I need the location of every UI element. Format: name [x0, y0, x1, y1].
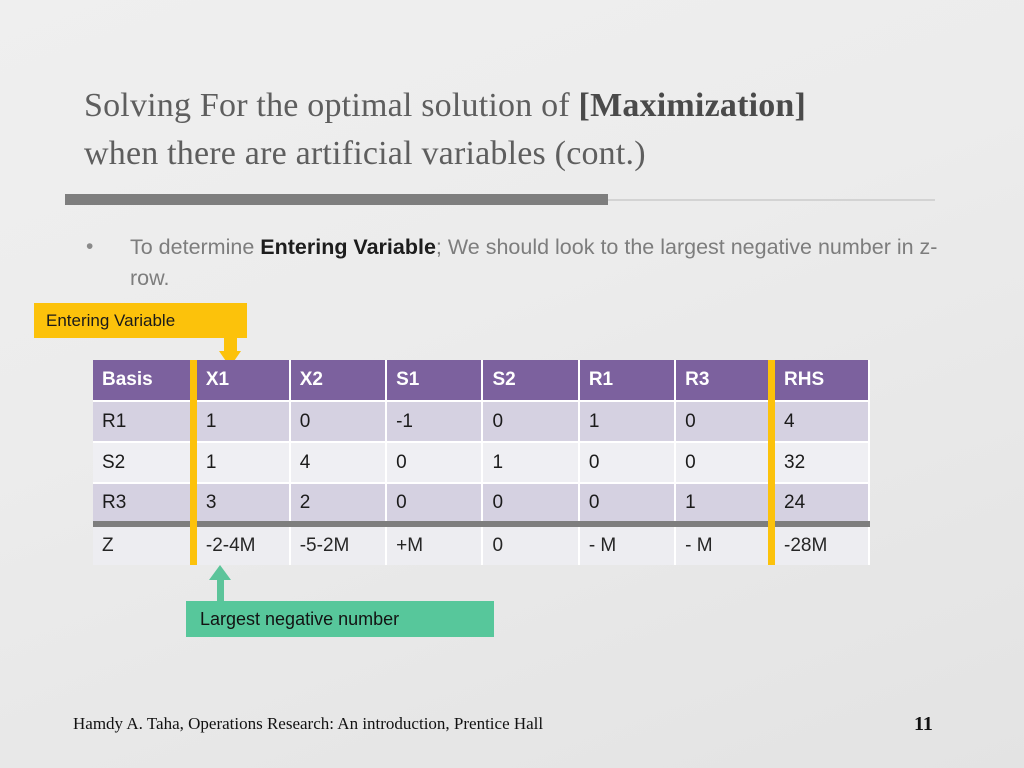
cell-r3: 1 — [675, 483, 771, 524]
cell-s2: 0 — [482, 524, 578, 565]
table-row: S2 1 4 0 1 0 0 32 — [93, 442, 869, 483]
bullet-list: • To determine Entering Variable; We sho… — [86, 232, 946, 294]
cell-x1: 3 — [193, 483, 289, 524]
bullet-text-emphasis: Entering Variable — [260, 235, 436, 259]
cell-x1: 1 — [193, 401, 289, 442]
bullet-marker-icon: • — [86, 236, 93, 257]
cell-x2: 2 — [290, 483, 386, 524]
cell-rhs: 4 — [772, 401, 869, 442]
cell-basis: S2 — [93, 442, 193, 483]
cell-r3: 0 — [675, 401, 771, 442]
column-header-r1: R1 — [579, 360, 675, 401]
callout-largest-negative-number: Largest negative number — [186, 601, 494, 637]
title-line1-bold: [Maximization] — [579, 87, 807, 124]
cell-r3: 0 — [675, 442, 771, 483]
table-row: R1 1 0 -1 0 1 0 4 — [93, 401, 869, 442]
column-header-basis: Basis — [93, 360, 193, 401]
footer-page-number: 11 — [914, 713, 933, 736]
cell-basis: R3 — [93, 483, 193, 524]
cell-basis: Z — [93, 524, 193, 565]
cell-x2: 0 — [290, 401, 386, 442]
table-row: R3 3 2 0 0 0 1 24 — [93, 483, 869, 524]
simplex-tableau: Basis X1 X2 S1 S2 R1 R3 RHS R1 1 0 -1 0 … — [93, 360, 870, 565]
entering-variable-arrow-stem — [224, 336, 237, 352]
cell-r1: - M — [579, 524, 675, 565]
column-header-s2: S2 — [482, 360, 578, 401]
table-row-z: Z -2-4M -5-2M +M 0 - M - M -28M — [93, 524, 869, 565]
cell-s1: 0 — [386, 483, 482, 524]
table-header-row: Basis X1 X2 S1 S2 R1 R3 RHS — [93, 360, 869, 401]
cell-rhs: -28M — [772, 524, 869, 565]
title-line1-plain: Solving For the optimal solution of — [84, 87, 579, 124]
cell-x1: 1 — [193, 442, 289, 483]
title-rule-thick — [65, 194, 608, 205]
cell-r1: 1 — [579, 401, 675, 442]
cell-s1: 0 — [386, 442, 482, 483]
cell-x2: 4 — [290, 442, 386, 483]
cell-x2: -5-2M — [290, 524, 386, 565]
cell-rhs: 32 — [772, 442, 869, 483]
cell-x1: -2-4M — [193, 524, 289, 565]
slide-canvas: Solving For the optimal solution of [Max… — [0, 0, 1024, 768]
cell-rhs: 24 — [772, 483, 869, 524]
column-header-rhs: RHS — [772, 360, 869, 401]
cell-s1: +M — [386, 524, 482, 565]
bullet-text-before: To determine — [130, 235, 260, 259]
cell-s2: 1 — [482, 442, 578, 483]
cell-s2: 0 — [482, 483, 578, 524]
bullet-item: To determine Entering Variable; We shoul… — [130, 232, 946, 294]
column-header-r3: R3 — [675, 360, 771, 401]
cell-basis: R1 — [93, 401, 193, 442]
footer-reference: Hamdy A. Taha, Operations Research: An i… — [73, 714, 543, 734]
column-header-x2: X2 — [290, 360, 386, 401]
cell-s2: 0 — [482, 401, 578, 442]
cell-r1: 0 — [579, 442, 675, 483]
column-header-x1: X1 — [193, 360, 289, 401]
cell-r3: - M — [675, 524, 771, 565]
cell-s1: -1 — [386, 401, 482, 442]
title-line2: when there are artificial variables (con… — [84, 135, 646, 172]
column-header-s1: S1 — [386, 360, 482, 401]
cell-r1: 0 — [579, 483, 675, 524]
callout-entering-variable: Entering Variable — [34, 303, 247, 338]
largest-negative-arrow-stem — [217, 578, 224, 603]
page-title: Solving For the optimal solution of [Max… — [84, 82, 964, 179]
